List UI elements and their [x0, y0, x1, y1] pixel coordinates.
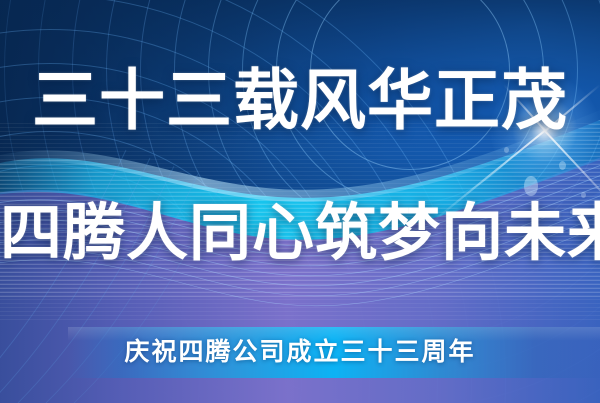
- subtitle-text: 庆祝四腾公司成立三十三周年: [0, 336, 600, 368]
- bokeh-circle-icon: [504, 147, 509, 153]
- headline-line-2: 四腾人同心筑梦向未来: [0, 200, 600, 266]
- bokeh-circle-icon: [524, 176, 538, 196]
- headline-line-1: 三十三载风华正茂: [0, 66, 600, 136]
- anniversary-poster: 三十三载风华正茂 四腾人同心筑梦向未来 庆祝四腾公司成立三十三周年: [0, 0, 600, 403]
- bokeh-circle-icon: [559, 161, 566, 170]
